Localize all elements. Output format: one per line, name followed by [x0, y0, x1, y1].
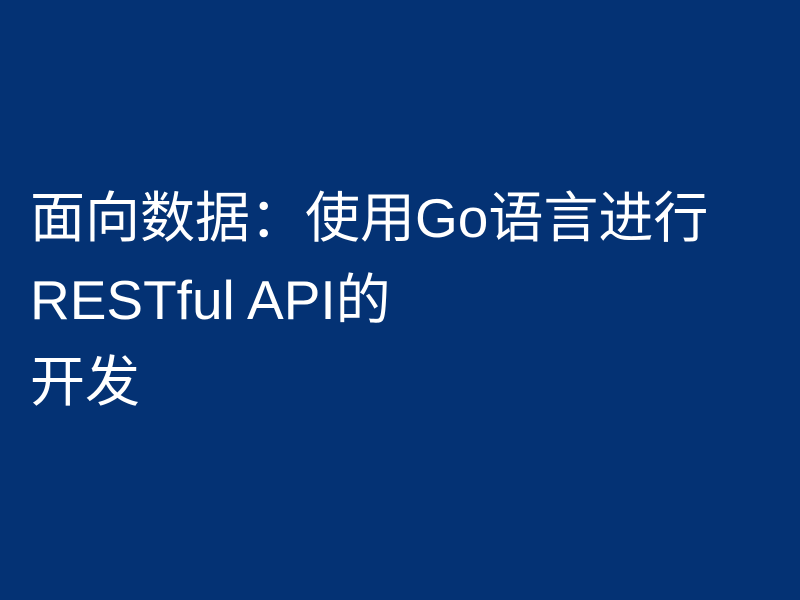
- title-line-3: 开发: [30, 341, 140, 423]
- slide-canvas: 面向数据：使用Go语言进行 RESTful API的 开发: [0, 0, 800, 600]
- title-line-1: 面向数据：使用Go语言进行: [30, 177, 708, 259]
- title-line-2: RESTful API的: [30, 259, 391, 341]
- title-block: 面向数据：使用Go语言进行 RESTful API的 开发: [0, 0, 800, 600]
